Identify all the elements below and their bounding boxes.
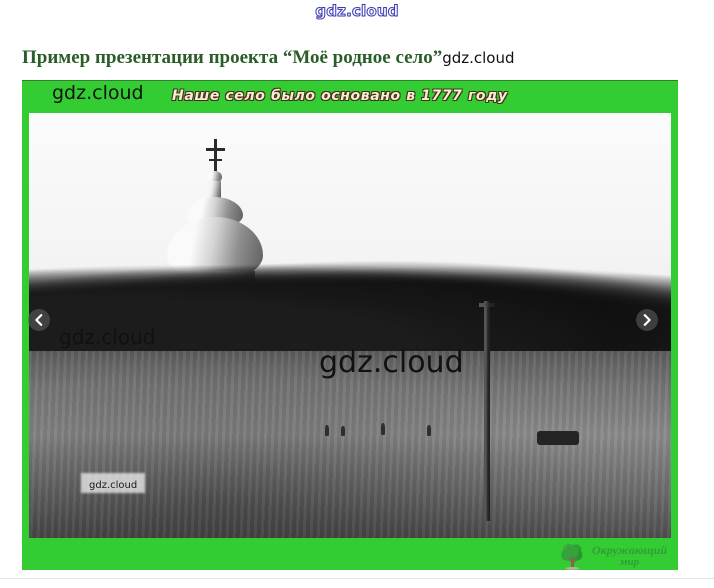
bottom-divider [0,578,714,579]
church-cross-center-vertical [214,139,217,173]
page-root: gdz.cloud Пример презентации проекта “Мо… [0,0,714,588]
banner-watermark: gdz.cloud [52,82,144,104]
title-watermark: gdz.cloud [442,49,514,67]
brand-logo-line1: Окружающий [592,543,667,557]
page-title-text: Пример презентации проекта “Моё родное с… [22,47,442,68]
chevron-right-icon [642,314,652,326]
church-cross-center-lower-bar [209,159,222,161]
page-title: Пример презентации проекта “Моё родное с… [22,47,515,70]
photo-watermark-center: gdz.cloud [319,345,464,380]
carousel-next-button[interactable] [636,309,658,331]
photo-horse-cart [537,431,579,445]
brand-logo: Окружающий мир [558,539,678,573]
tree-icon [558,541,588,571]
carousel-prev-button[interactable] [28,309,50,331]
photo-figure-2 [341,426,345,436]
utility-pole [484,301,490,521]
chevron-left-icon [34,314,44,326]
photo-watermark-small: gdz.cloud [89,480,137,491]
top-watermark: gdz.cloud [0,2,714,20]
brand-logo-line2: мир [592,556,667,568]
photo-watermark-left: gdz.cloud [59,325,155,349]
utility-pole-crossarm [479,303,495,307]
church-cross-center-horizontal [206,148,225,151]
brand-logo-text: Окружающий мир [592,544,667,568]
photo-figure-3 [381,423,385,435]
photo-figure-4 [427,425,431,436]
slide-caption-text: Наше село было основано в 1777 году [172,88,508,104]
photo-figure-1 [325,425,329,436]
slide-photo: gdz.cloud gdz.cloud gdz.cloud gdz.cloud … [29,113,671,538]
slide-frame: Наше село было основано в 1777 году gdz.… [22,80,678,570]
photo-scene: gdz.cloud gdz.cloud gdz.cloud gdz.cloud … [29,113,671,538]
slide-caption-banner: Наше село было основано в 1777 году gdz.… [22,81,678,113]
